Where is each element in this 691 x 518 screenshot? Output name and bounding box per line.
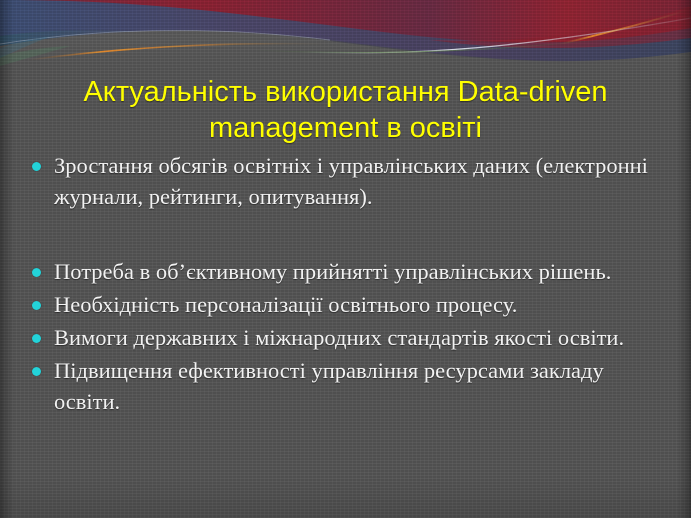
list-item-text: Потреба в об’єктивному прийнятті управлі… [54, 256, 672, 287]
presentation-slide: Актуальність використання Data-driven ma… [0, 0, 691, 518]
banner-wave-graphic [0, 0, 691, 72]
bullet-dot-icon [32, 301, 54, 310]
bullet-dot-icon [32, 162, 54, 171]
list-item-text: Вимоги державних і міжнародних стандарті… [54, 322, 672, 353]
list-item: Необхідність персоналізації освітнього п… [32, 289, 672, 320]
list-item-text: Зростання обсягів освітніх і управлінськ… [54, 150, 672, 212]
list-item: Зростання обсягів освітніх і управлінськ… [32, 150, 672, 212]
list-item-text: Підвищення ефективності управління ресур… [54, 355, 672, 417]
list-item: Вимоги державних і міжнародних стандарті… [32, 322, 672, 353]
bullet-dot-icon [32, 334, 54, 343]
list-item: Потреба в об’єктивному прийнятті управлі… [32, 256, 672, 287]
slide-title: Актуальність використання Data-driven ma… [30, 74, 661, 146]
decorative-wave-banner [0, 0, 691, 72]
bullet-dot-icon [32, 268, 54, 277]
bullet-dot-icon [32, 367, 54, 376]
list-item-text: Необхідність персоналізації освітнього п… [54, 289, 672, 320]
list-item: Підвищення ефективності управління ресур… [32, 355, 672, 417]
bullet-list: Зростання обсягів освітніх і управлінськ… [32, 150, 672, 419]
